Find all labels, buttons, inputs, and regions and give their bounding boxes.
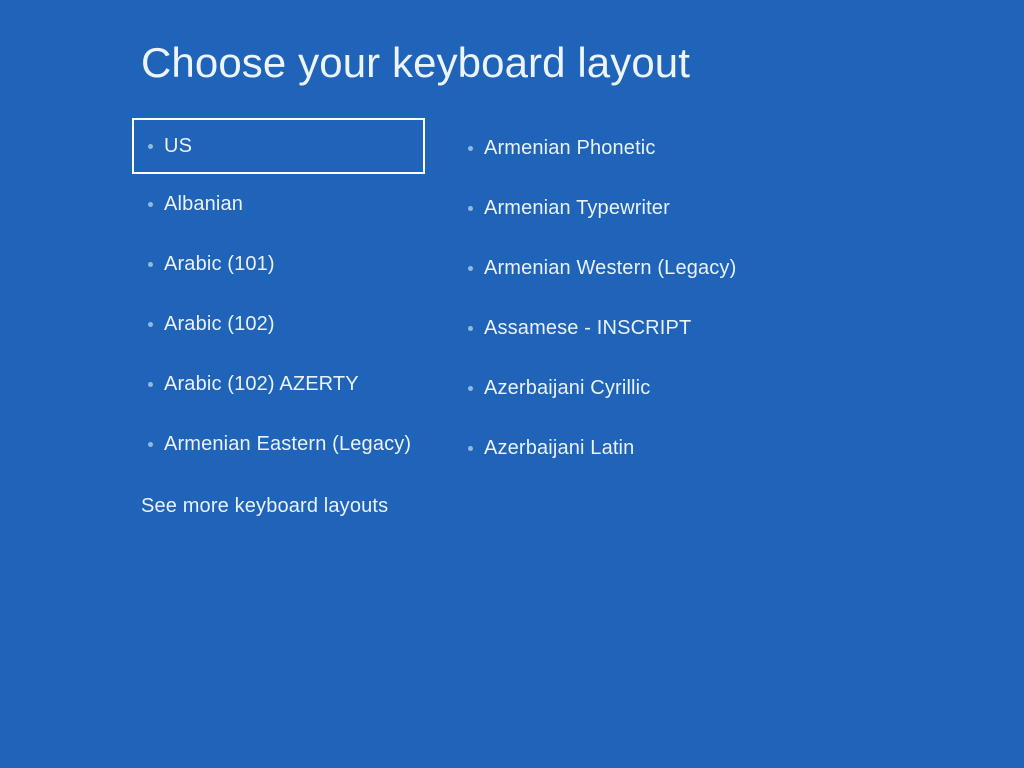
- bullet-dot-icon: [148, 144, 153, 149]
- keyboard-layout-item-label: Armenian Eastern (Legacy): [164, 433, 411, 456]
- bullet-dot-icon: [148, 202, 153, 207]
- keyboard-layout-item[interactable]: Arabic (101): [132, 234, 432, 294]
- bullet-dot-icon: [148, 322, 153, 327]
- keyboard-layout-column-right: Armenian PhoneticArmenian TypewriterArme…: [457, 118, 787, 478]
- keyboard-layout-item-label: Albanian: [164, 193, 243, 216]
- keyboard-layout-column-left: USAlbanianArabic (101)Arabic (102)Arabic…: [132, 118, 432, 474]
- keyboard-layout-item-label: Assamese - INSCRIPT: [484, 317, 691, 340]
- bullet-dot-icon: [468, 386, 473, 391]
- keyboard-layout-item[interactable]: Armenian Typewriter: [457, 178, 787, 238]
- keyboard-layout-screen: Choose your keyboard layout USAlbanianAr…: [0, 0, 1024, 768]
- keyboard-layout-list: USAlbanianArabic (101)Arabic (102)Arabic…: [0, 0, 1024, 768]
- keyboard-layout-item-label: Azerbaijani Latin: [484, 437, 634, 460]
- keyboard-layout-item[interactable]: Assamese - INSCRIPT: [457, 298, 787, 358]
- keyboard-layout-item-label: Arabic (101): [164, 253, 275, 276]
- keyboard-layout-item[interactable]: US: [132, 118, 425, 174]
- keyboard-layout-item-label: Armenian Typewriter: [484, 197, 670, 220]
- keyboard-layout-item[interactable]: Arabic (102) AZERTY: [132, 354, 432, 414]
- keyboard-layout-item-label: Armenian Western (Legacy): [484, 257, 736, 280]
- keyboard-layout-item[interactable]: Azerbaijani Latin: [457, 418, 787, 478]
- bullet-dot-icon: [148, 262, 153, 267]
- bullet-dot-icon: [468, 146, 473, 151]
- keyboard-layout-item[interactable]: Armenian Eastern (Legacy): [132, 414, 432, 474]
- bullet-dot-icon: [468, 266, 473, 271]
- keyboard-layout-item-label: Arabic (102) AZERTY: [164, 373, 359, 396]
- bullet-dot-icon: [468, 446, 473, 451]
- see-more-keyboard-layouts-link[interactable]: See more keyboard layouts: [141, 492, 388, 520]
- keyboard-layout-item[interactable]: Albanian: [132, 174, 432, 234]
- keyboard-layout-item[interactable]: Armenian Phonetic: [457, 118, 787, 178]
- keyboard-layout-item-label: Azerbaijani Cyrillic: [484, 377, 650, 400]
- bullet-dot-icon: [468, 206, 473, 211]
- keyboard-layout-item-label: US: [164, 135, 192, 158]
- bullet-dot-icon: [148, 382, 153, 387]
- bullet-dot-icon: [468, 326, 473, 331]
- keyboard-layout-item-label: Armenian Phonetic: [484, 137, 656, 160]
- keyboard-layout-item[interactable]: Arabic (102): [132, 294, 432, 354]
- bullet-dot-icon: [148, 442, 153, 447]
- keyboard-layout-item[interactable]: Armenian Western (Legacy): [457, 238, 787, 298]
- keyboard-layout-item-label: Arabic (102): [164, 313, 275, 336]
- keyboard-layout-item[interactable]: Azerbaijani Cyrillic: [457, 358, 787, 418]
